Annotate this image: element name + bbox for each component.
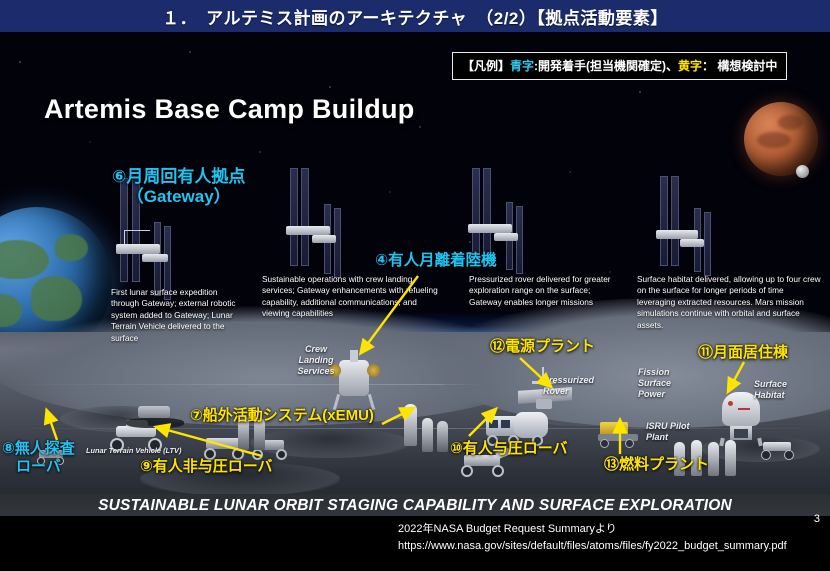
slide-title-bar: １． アルテミス計画のアーキテクチャ （2/2）【拠点活動要素】 [0, 0, 830, 32]
page-number: 3 [814, 513, 820, 525]
source-url: https://www.nasa.gov/sites/default/files… [398, 538, 787, 555]
slide-root: １． アルテミス計画のアーキテクチャ （2/2）【拠点活動要素】 [0, 0, 830, 571]
banner-main-text: SUSTAINABLE LUNAR ORBIT STAGING CAPABILI… [0, 497, 830, 515]
source-citation: 2022年NASA Budget Request Summaryより https… [398, 521, 787, 554]
slide-footer: 3 2022年NASA Budget Request Summaryより htt… [0, 516, 830, 571]
source-line: 2022年NASA Budget Request Summaryより [398, 521, 787, 538]
bottom-banner: SUSTAINABLE LUNAR ORBIT STAGING CAPABILI… [0, 494, 830, 516]
callout-arrows [0, 32, 830, 516]
page-title: １． アルテミス計画のアーキテクチャ （2/2）【拠点活動要素】 [162, 4, 668, 29]
artwork-stage: 【凡例】青字:開発着手(担当機関確定)、黄字： 構想検討中 Artemis Ba… [0, 32, 830, 516]
